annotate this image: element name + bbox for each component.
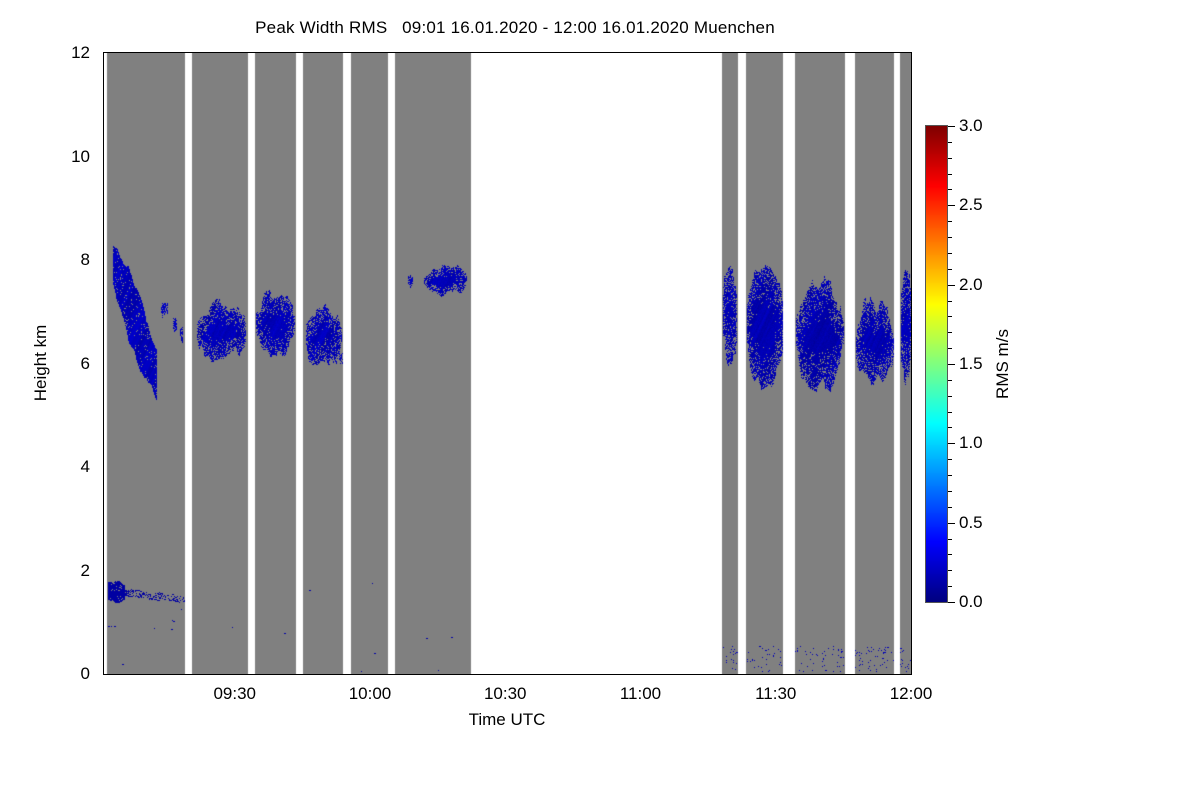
- x-tick-650: [595, 674, 596, 675]
- colorbar-tick-2.8: [948, 158, 952, 159]
- x-tick-top-720: [911, 52, 912, 53]
- y-tick-label-0: 0: [0, 664, 90, 684]
- y-tick-right-3: [911, 520, 912, 521]
- y-tick-right-5.5: [911, 390, 912, 391]
- y-tick-right-6.5: [911, 339, 912, 340]
- x-tick-top-660: [640, 52, 641, 53]
- y-tick-2: [103, 572, 104, 573]
- y-tick-1: [103, 623, 104, 624]
- y-tick-4.5: [103, 442, 104, 443]
- y-tick-8.5: [103, 235, 104, 236]
- x-tick-top-630: [505, 52, 506, 53]
- figure-root: Peak Width RMS 09:01 16.01.2020 - 12:00 …: [0, 0, 1200, 800]
- y-tick-right-7.5: [911, 287, 912, 288]
- x-tick-top-570: [235, 52, 236, 53]
- x-tick-590: [325, 674, 326, 675]
- colorbar-tick-2.9: [948, 142, 952, 143]
- colorbar-tick-0.9: [948, 459, 952, 460]
- y-tick-right-11: [911, 106, 912, 107]
- colorbar-tick-label-3: 1.5: [959, 354, 983, 374]
- y-tick-right-12: [911, 54, 912, 55]
- y-tick-right-0.5: [911, 649, 912, 650]
- colorbar-tick-0.4: [948, 539, 952, 540]
- colorbar-tick-2.3: [948, 237, 952, 238]
- page-title: Peak Width RMS 09:01 16.01.2020 - 12:00 …: [0, 18, 1030, 38]
- colorbar-tick-0.3: [948, 554, 952, 555]
- colorbar-tick-2.5: [948, 205, 955, 206]
- y-tick-right-3.5: [911, 494, 912, 495]
- colorbar-tick-label-5: 2.5: [959, 195, 983, 215]
- y-tick-3: [103, 520, 104, 521]
- y-tick-right-6: [911, 365, 912, 366]
- y-tick-right-4: [911, 468, 912, 469]
- y-tick-right-5: [911, 416, 912, 417]
- x-tick-620: [460, 674, 461, 675]
- x-axis-label: Time UTC: [469, 710, 546, 730]
- y-tick-3.5: [103, 494, 104, 495]
- x-tick-690: [776, 674, 777, 675]
- x-tick-top-680: [731, 52, 732, 53]
- x-tick-label-2: 10:30: [484, 684, 527, 704]
- plot-area[interactable]: [103, 52, 912, 675]
- colorbar-tick-1.7: [948, 332, 952, 333]
- colorbar-tick-0.1: [948, 586, 952, 587]
- y-tick-9: [103, 209, 104, 210]
- x-tick-640: [550, 674, 551, 675]
- colorbar-tick-1: [948, 443, 955, 444]
- x-tick-top-600: [370, 52, 371, 53]
- colorbar-gradient: [925, 125, 948, 603]
- x-tick-label-1: 10:00: [349, 684, 392, 704]
- x-tick-top-590: [325, 52, 326, 53]
- x-tick-label-4: 11:30: [755, 684, 796, 704]
- y-tick-11.5: [103, 80, 104, 81]
- y-tick-4: [103, 468, 104, 469]
- y-tick-10.5: [103, 132, 104, 133]
- colorbar-tick-1.2: [948, 412, 952, 413]
- y-tick-right-4.5: [911, 442, 912, 443]
- x-tick-top-650: [595, 52, 596, 53]
- y-tick-12: [103, 54, 104, 55]
- heatmap-canvas[interactable]: [104, 53, 911, 674]
- colorbar-tick-2.4: [948, 221, 952, 222]
- x-tick-top-560: [190, 52, 191, 53]
- x-tick-720: [911, 674, 912, 675]
- colorbar-tick-1.8: [948, 316, 952, 317]
- y-tick-0.5: [103, 649, 104, 650]
- x-tick-top-610: [415, 52, 416, 53]
- x-tick-700: [821, 674, 822, 675]
- y-tick-right-9: [911, 209, 912, 210]
- y-tick-right-8: [911, 261, 912, 262]
- y-tick-5: [103, 416, 104, 417]
- x-tick-570: [235, 674, 236, 675]
- x-tick-630: [505, 674, 506, 675]
- colorbar-tick-2.7: [948, 174, 952, 175]
- x-tick-680: [731, 674, 732, 675]
- y-tick-right-2.5: [911, 546, 912, 547]
- y-tick-label-8: 8: [0, 250, 90, 270]
- y-tick-10: [103, 158, 104, 159]
- colorbar-tick-0.6: [948, 507, 952, 508]
- x-tick-660: [640, 674, 641, 675]
- colorbar-tick-1.5: [948, 364, 955, 365]
- y-tick-1.5: [103, 597, 104, 598]
- colorbar-tick-0.7: [948, 491, 952, 492]
- colorbar-tick-1.9: [948, 301, 952, 302]
- y-tick-6.5: [103, 339, 104, 340]
- y-tick-7.5: [103, 287, 104, 288]
- y-tick-right-10: [911, 158, 912, 159]
- x-tick-580: [280, 674, 281, 675]
- x-tick-550: [145, 674, 146, 675]
- colorbar-tick-label-6: 3.0: [959, 116, 983, 136]
- colorbar[interactable]: [925, 125, 948, 603]
- colorbar-tick-0.2: [948, 570, 952, 571]
- colorbar-tick-1.6: [948, 348, 952, 349]
- colorbar-tick-label-4: 2.0: [959, 275, 983, 295]
- x-tick-top-700: [821, 52, 822, 53]
- y-tick-label-12: 12: [0, 43, 90, 63]
- y-tick-right-2: [911, 572, 912, 573]
- colorbar-tick-2.2: [948, 253, 952, 254]
- y-tick-11: [103, 106, 104, 107]
- x-tick-label-5: 12:00: [890, 684, 933, 704]
- colorbar-tick-1.3: [948, 396, 952, 397]
- x-tick-top-580: [280, 52, 281, 53]
- colorbar-tick-0.8: [948, 475, 952, 476]
- x-tick-label-0: 09:30: [213, 684, 256, 704]
- y-tick-right-9.5: [911, 183, 912, 184]
- x-tick-top-670: [686, 52, 687, 53]
- y-tick-label-10: 10: [0, 147, 90, 167]
- colorbar-tick-3: [948, 126, 955, 127]
- y-tick-right-8.5: [911, 235, 912, 236]
- x-tick-710: [866, 674, 867, 675]
- y-tick-label-2: 2: [0, 561, 90, 581]
- x-tick-top-690: [776, 52, 777, 53]
- y-axis-label: Height km: [31, 325, 51, 402]
- y-tick-2.5: [103, 546, 104, 547]
- y-tick-9.5: [103, 183, 104, 184]
- colorbar-tick-0: [948, 602, 955, 603]
- colorbar-tick-1.4: [948, 380, 952, 381]
- colorbar-tick-1.1: [948, 427, 952, 428]
- colorbar-label: RMS m/s: [993, 329, 1013, 399]
- colorbar-tick-2: [948, 285, 955, 286]
- y-tick-7: [103, 313, 104, 314]
- colorbar-tick-0.5: [948, 523, 955, 524]
- y-tick-8: [103, 261, 104, 262]
- x-tick-670: [686, 674, 687, 675]
- y-tick-right-1: [911, 623, 912, 624]
- colorbar-tick-label-0: 0.0: [959, 592, 983, 612]
- x-tick-600: [370, 674, 371, 675]
- y-tick-right-10.5: [911, 132, 912, 133]
- y-tick-right-11.5: [911, 80, 912, 81]
- colorbar-tick-label-1: 0.5: [959, 513, 983, 533]
- y-tick-5.5: [103, 390, 104, 391]
- x-tick-top-640: [550, 52, 551, 53]
- x-tick-610: [415, 674, 416, 675]
- x-tick-560: [190, 674, 191, 675]
- y-tick-right-7: [911, 313, 912, 314]
- y-tick-label-4: 4: [0, 457, 90, 477]
- y-tick-right-1.5: [911, 597, 912, 598]
- x-tick-top-550: [145, 52, 146, 53]
- x-tick-top-620: [460, 52, 461, 53]
- colorbar-tick-label-2: 1.0: [959, 433, 983, 453]
- colorbar-tick-2.1: [948, 269, 952, 270]
- y-tick-6: [103, 365, 104, 366]
- x-tick-top-710: [866, 52, 867, 53]
- x-tick-label-3: 11:00: [620, 684, 661, 704]
- colorbar-tick-2.6: [948, 189, 952, 190]
